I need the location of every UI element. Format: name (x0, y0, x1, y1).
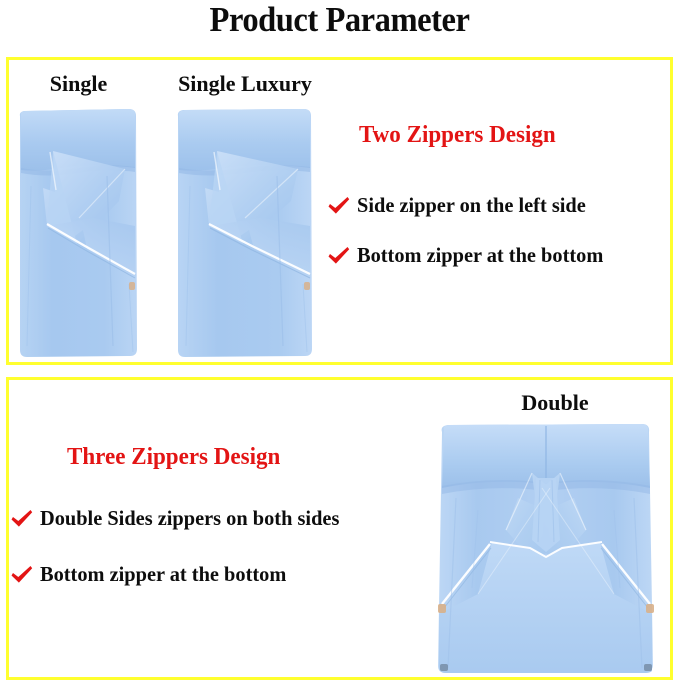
bed-label-double: Double (470, 390, 640, 416)
bullet-label: Double Sides zippers on both sides (40, 506, 339, 531)
bedding-image-single (17, 106, 139, 359)
bullet-item: Bottom zipper at the bottom (327, 243, 611, 268)
bed-label-single: Single (17, 71, 140, 97)
red-check-icon (10, 508, 34, 530)
page-title: Product Parameter (24, 1, 655, 39)
bullet-label: Side zipper on the left side (357, 193, 586, 218)
design-heading-three-zippers: Three Zippers Design (67, 444, 280, 471)
bedding-image-double (420, 418, 670, 677)
product-parameter-infographic: Product Parameter Single Single Luxury (0, 0, 679, 685)
bullet-item: Bottom zipper at the bottom (10, 562, 294, 587)
bullet-item: Double Sides zippers on both sides (10, 506, 349, 531)
bedding-image-single-luxury (175, 106, 314, 359)
red-check-icon (10, 564, 34, 586)
red-check-icon (327, 245, 351, 267)
bullet-label: Bottom zipper at the bottom (357, 243, 603, 268)
red-check-icon (327, 195, 351, 217)
bed-label-single-luxury: Single Luxury (155, 71, 335, 97)
bullet-item: Side zipper on the left side (327, 193, 593, 218)
design-heading-two-zippers: Two Zippers Design (359, 122, 556, 149)
bullet-label: Bottom zipper at the bottom (40, 562, 286, 587)
